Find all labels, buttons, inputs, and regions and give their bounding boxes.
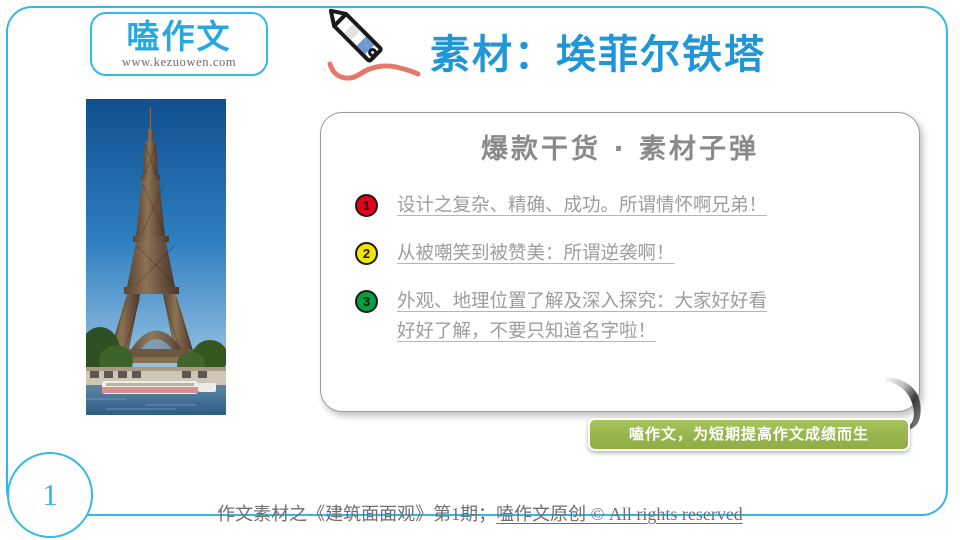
content-card: 爆款干货 · 素材子弹 1 设计之复杂、精确、成功。所谓情怀啊兄弟！ 2 从被嘲… bbox=[320, 112, 920, 412]
bullet-text-1: 设计之复杂、精确、成功。所谓情怀啊兄弟！ bbox=[397, 191, 767, 221]
bullet-line: 好好了解，不要只知道名字啦！ bbox=[397, 317, 767, 347]
bullet-badge-1: 1 bbox=[355, 194, 378, 217]
squiggle-underline-icon bbox=[330, 64, 418, 78]
brand-logo[interactable]: 嗑作文 www.kezuowen.com bbox=[90, 12, 268, 76]
page-title: 素材：埃菲尔铁塔 bbox=[430, 26, 900, 86]
list-item[interactable]: 3 外观、地理位置了解及深入探究：大家好好看 好好了解，不要只知道名字啦！ bbox=[355, 287, 900, 347]
card-title: 爆款干货 · 素材子弹 bbox=[321, 127, 919, 166]
footer-credit: 作文素材之《建筑面面观》第1期；嗑作文原创 © All rights reser… bbox=[0, 500, 960, 526]
bullet-text-2: 从被嘲笑到被赞美：所谓逆袭啊！ bbox=[397, 239, 675, 269]
pencil-decoration bbox=[318, 4, 428, 90]
bullet-text-3: 外观、地理位置了解及深入探究：大家好好看 好好了解，不要只知道名字啦！ bbox=[397, 287, 767, 347]
bullet-badge-3: 3 bbox=[355, 290, 378, 313]
eiffel-tower-photo bbox=[86, 99, 226, 415]
list-item[interactable]: 2 从被嘲笑到被赞美：所谓逆袭啊！ bbox=[355, 239, 900, 269]
bullet-list: 1 设计之复杂、精确、成功。所谓情怀啊兄弟！ 2 从被嘲笑到被赞美：所谓逆袭啊！… bbox=[355, 191, 900, 365]
tagline-banner: 嗑作文，为短期提高作文成绩而生 bbox=[588, 418, 910, 451]
footer-plain-text: 作文素材之《建筑面面观》第1期； bbox=[217, 504, 496, 524]
page-number: 1 bbox=[7, 452, 93, 538]
footer-underlined-text: 嗑作文原创 © All rights reserved bbox=[496, 504, 743, 524]
bullet-line: 从被嘲笑到被赞美：所谓逆袭啊！ bbox=[397, 239, 675, 269]
bullet-line: 外观、地理位置了解及深入探究：大家好好看 bbox=[397, 287, 767, 317]
bullet-line: 设计之复杂、精确、成功。所谓情怀啊兄弟！ bbox=[397, 191, 767, 221]
brand-logo-name: 嗑作文 bbox=[92, 17, 266, 57]
brand-logo-url: www.kezuowen.com bbox=[92, 55, 266, 69]
pencil-icon bbox=[318, 4, 428, 90]
list-item[interactable]: 1 设计之复杂、精确、成功。所谓情怀啊兄弟！ bbox=[355, 191, 900, 221]
bullet-badge-2: 2 bbox=[355, 242, 378, 265]
slide-canvas: 嗑作文 www.kezuowen.com 素材：埃菲尔铁塔 bbox=[0, 0, 960, 540]
